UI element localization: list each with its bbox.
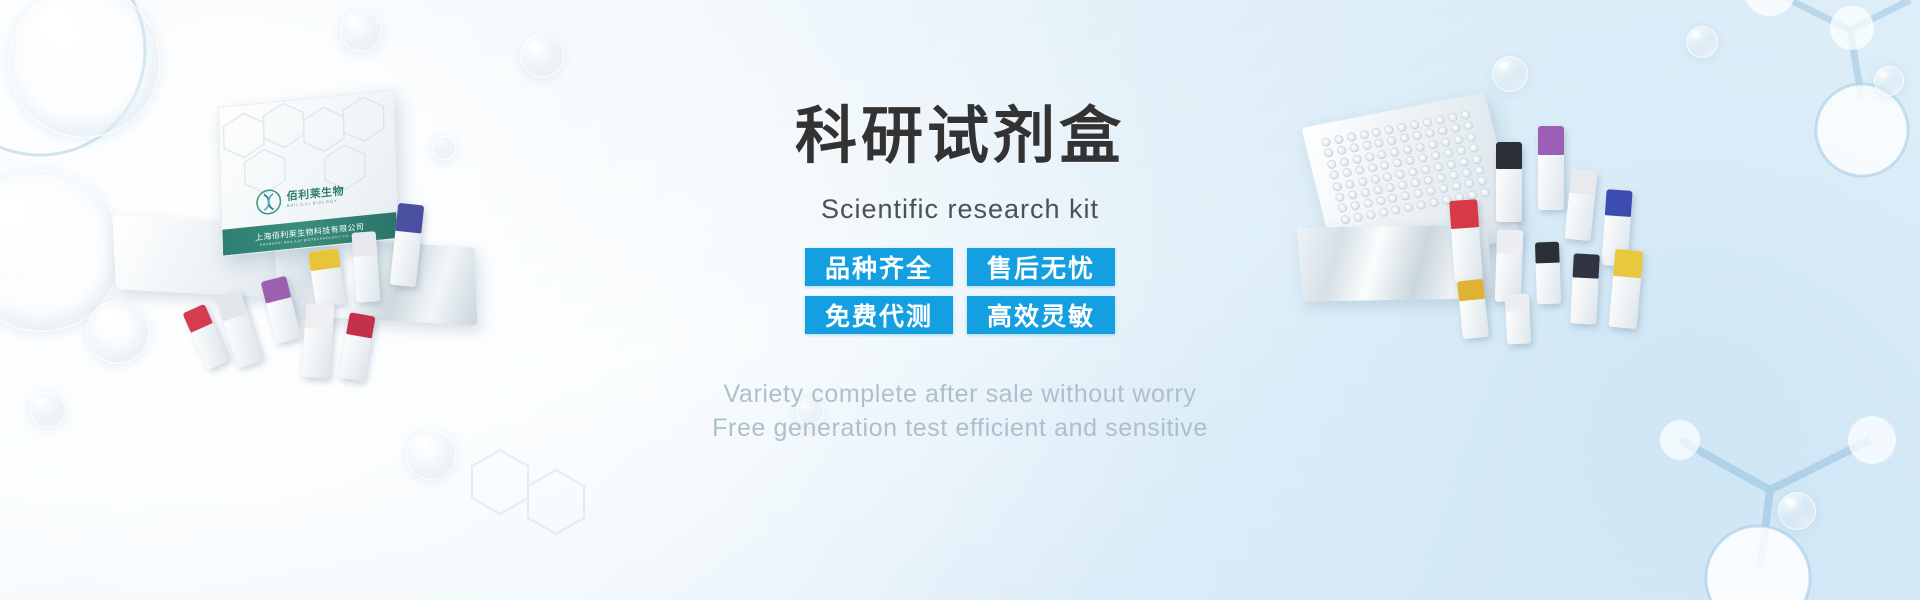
feature-badge-sensitive[interactable]: 高效灵敏 — [967, 296, 1115, 334]
feature-badges: 品种齐全 售后无忧 免费代测 高效灵敏 — [805, 248, 1115, 334]
tagline-line-2: Free generation test efficient and sensi… — [712, 412, 1208, 446]
tagline: Variety complete after sale without worr… — [712, 378, 1208, 445]
banner-content: 科研试剂盒 Scientific research kit 品种齐全 售后无忧 … — [0, 0, 1920, 600]
page-title: 科研试剂盒 — [795, 106, 1125, 168]
feature-badge-variety[interactable]: 品种齐全 — [805, 248, 953, 286]
tagline-line-1: Variety complete after sale without worr… — [712, 378, 1208, 412]
promo-banner: 佰利莱生物 BAILILAI BIOLOGY 上海佰利莱生物科技有限公司 SHA… — [0, 0, 1920, 600]
feature-badge-free-test[interactable]: 免费代测 — [805, 296, 953, 334]
feature-badge-after-sale[interactable]: 售后无忧 — [967, 248, 1115, 286]
page-subtitle: Scientific research kit — [821, 194, 1099, 225]
